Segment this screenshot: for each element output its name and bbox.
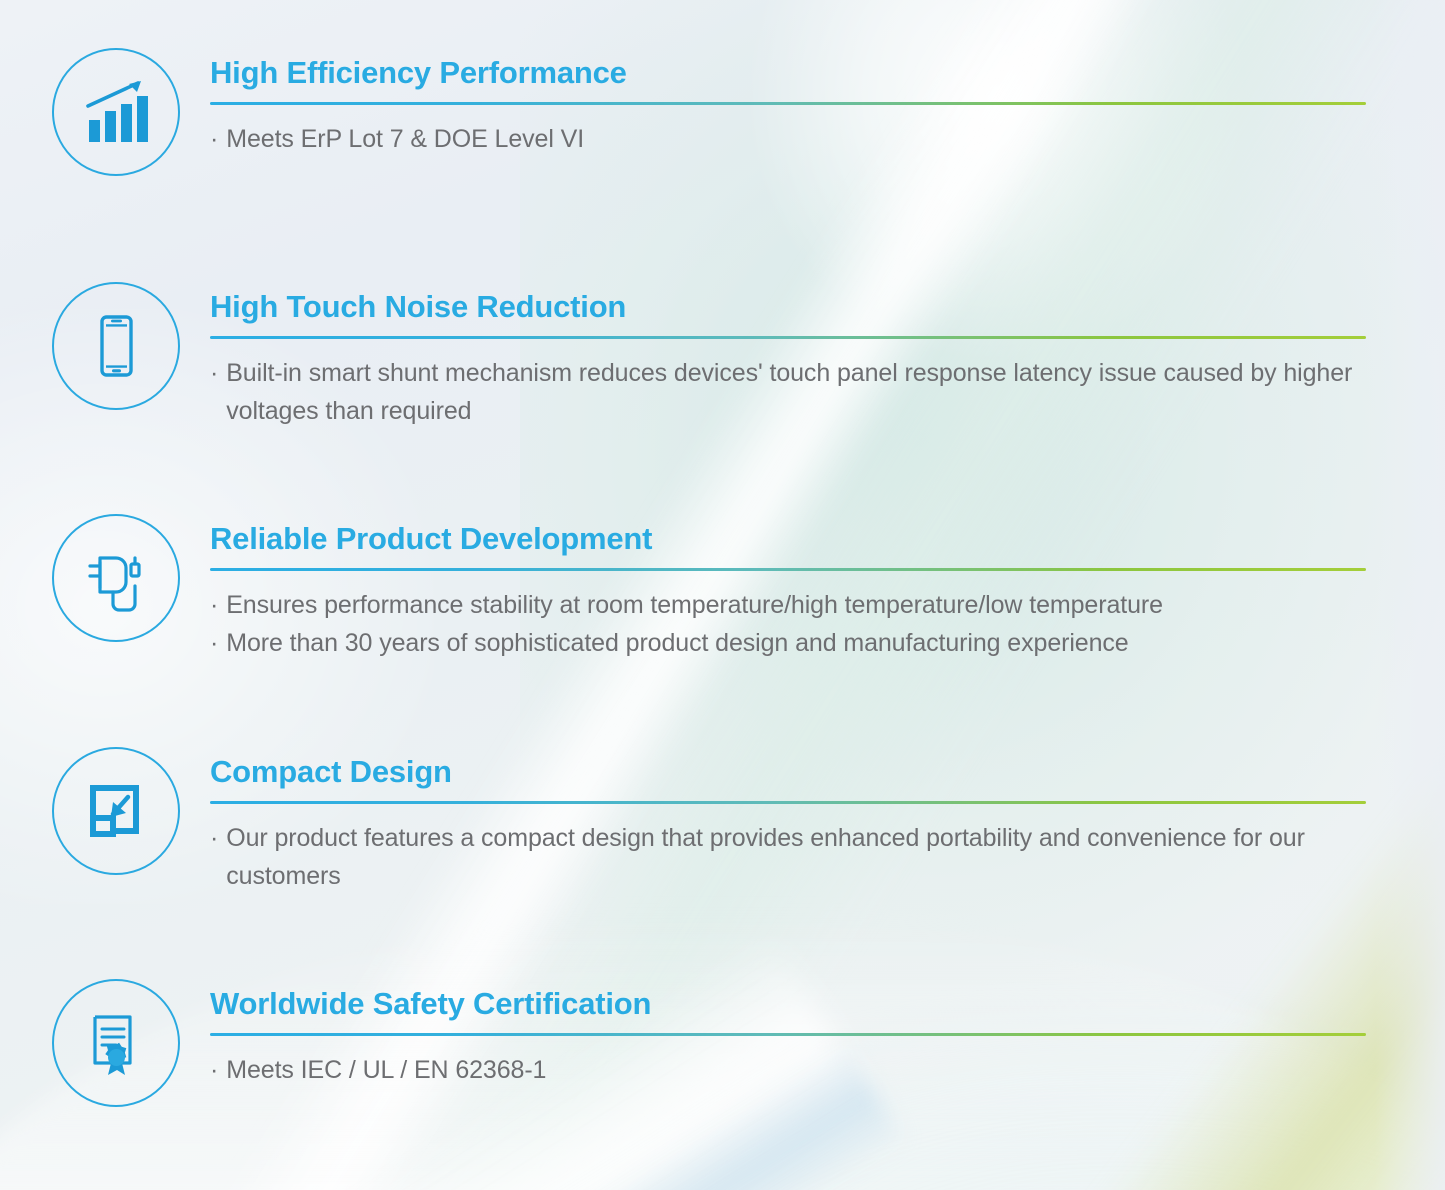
feature-bullet-item: · Meets IEC / UL / EN 62368-1 bbox=[210, 1051, 1366, 1090]
bullet-dot: · bbox=[210, 819, 218, 858]
smartphone-icon bbox=[52, 282, 180, 410]
bullet-dot: · bbox=[210, 120, 218, 159]
feature-divider bbox=[210, 1033, 1366, 1036]
feature-bullet-list: · Meets ErP Lot 7 & DOE Level VI bbox=[210, 120, 1366, 159]
feature-title: Reliable Product Development bbox=[210, 522, 1366, 557]
feature-bullet-item: · Built-in smart shunt mechanism reduces… bbox=[210, 354, 1370, 432]
feature-bullet-item: · Our product features a compact design … bbox=[210, 819, 1315, 897]
bar-chart-growth-icon bbox=[52, 48, 180, 176]
feature-title: High Efficiency Performance bbox=[210, 56, 1366, 91]
feature-bullet-text: More than 30 years of sophisticated prod… bbox=[226, 624, 1366, 663]
bullet-dot: · bbox=[210, 624, 218, 663]
feature-bullet-item: · Meets ErP Lot 7 & DOE Level VI bbox=[210, 120, 1366, 159]
feature-row: High Touch Noise Reduction · Built-in sm… bbox=[52, 282, 1370, 431]
feature-row: Compact Design · Our product features a … bbox=[52, 747, 1366, 896]
bullet-dot: · bbox=[210, 1051, 218, 1090]
feature-bullet-text: Meets ErP Lot 7 & DOE Level VI bbox=[226, 120, 1366, 159]
bullet-dot: · bbox=[210, 354, 218, 393]
feature-divider bbox=[210, 568, 1366, 571]
feature-bullet-text: Built-in smart shunt mechanism reduces d… bbox=[226, 354, 1370, 432]
feature-bullet-list: · Our product features a compact design … bbox=[210, 819, 1366, 897]
feature-row: High Efficiency Performance · Meets ErP … bbox=[52, 48, 1366, 176]
feature-row: Reliable Product Development · Ensures p… bbox=[52, 514, 1366, 663]
feature-bullet-list: · Built-in smart shunt mechanism reduces… bbox=[210, 354, 1370, 432]
feature-divider bbox=[210, 102, 1366, 105]
compact-resize-icon bbox=[52, 747, 180, 875]
feature-divider bbox=[210, 801, 1366, 804]
feature-divider bbox=[210, 336, 1366, 339]
bullet-dot: · bbox=[210, 586, 218, 625]
feature-body: Worldwide Safety Certification · Meets I… bbox=[210, 979, 1366, 1089]
feature-title: High Touch Noise Reduction bbox=[210, 290, 1370, 325]
feature-bullet-list: · Meets IEC / UL / EN 62368-1 bbox=[210, 1051, 1366, 1090]
feature-bullet-text: Our product features a compact design th… bbox=[226, 819, 1315, 897]
feature-body: Compact Design · Our product features a … bbox=[210, 747, 1366, 896]
feature-bullet-list: · Ensures performance stability at room … bbox=[210, 586, 1366, 664]
feature-bullet-item: · More than 30 years of sophisticated pr… bbox=[210, 624, 1366, 663]
feature-body: High Efficiency Performance · Meets ErP … bbox=[210, 48, 1366, 158]
feature-list-page: High Efficiency Performance · Meets ErP … bbox=[0, 0, 1445, 1190]
feature-title: Compact Design bbox=[210, 755, 1366, 790]
power-adapter-icon bbox=[52, 514, 180, 642]
feature-body: High Touch Noise Reduction · Built-in sm… bbox=[210, 282, 1370, 431]
feature-bullet-item: · Ensures performance stability at room … bbox=[210, 586, 1366, 625]
feature-title: Worldwide Safety Certification bbox=[210, 987, 1366, 1022]
feature-row: Worldwide Safety Certification · Meets I… bbox=[52, 979, 1366, 1107]
feature-bullet-text: Meets IEC / UL / EN 62368-1 bbox=[226, 1051, 1366, 1090]
certificate-award-icon bbox=[52, 979, 180, 1107]
feature-body: Reliable Product Development · Ensures p… bbox=[210, 514, 1366, 663]
feature-bullet-text: Ensures performance stability at room te… bbox=[226, 586, 1366, 625]
